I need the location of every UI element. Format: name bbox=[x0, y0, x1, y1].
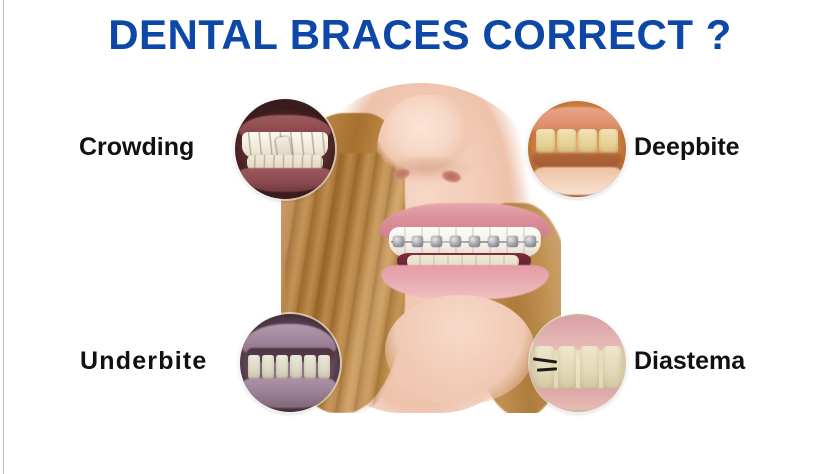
page-title: DENTAL BRACES CORRECT ? bbox=[0, 10, 840, 60]
label-crowding: Crowding bbox=[79, 133, 194, 161]
braces-brackets bbox=[391, 235, 539, 249]
bracket bbox=[412, 236, 423, 247]
mouth-with-braces bbox=[379, 203, 551, 297]
inset-image-underbite bbox=[240, 314, 340, 412]
bracket bbox=[469, 236, 480, 247]
bracket bbox=[393, 236, 404, 247]
bracket bbox=[507, 236, 518, 247]
label-underbite: Underbite bbox=[80, 347, 207, 375]
inset-image-crowding bbox=[235, 99, 335, 199]
bracket bbox=[431, 236, 442, 247]
inset-image-deepbite bbox=[528, 101, 626, 197]
bracket bbox=[488, 236, 499, 247]
lower-lip bbox=[381, 265, 549, 299]
infographic-poster: DENTAL BRACES CORRECT ? bbox=[0, 0, 840, 474]
inset-image-diastema bbox=[530, 314, 626, 412]
left-edge-rule bbox=[3, 0, 4, 474]
bracket bbox=[525, 236, 536, 247]
deepbite-upper-teeth bbox=[536, 129, 618, 155]
bracket bbox=[450, 236, 461, 247]
label-diastema: Diastema bbox=[634, 347, 745, 375]
label-deepbite: Deepbite bbox=[634, 133, 740, 161]
chin bbox=[385, 295, 535, 405]
